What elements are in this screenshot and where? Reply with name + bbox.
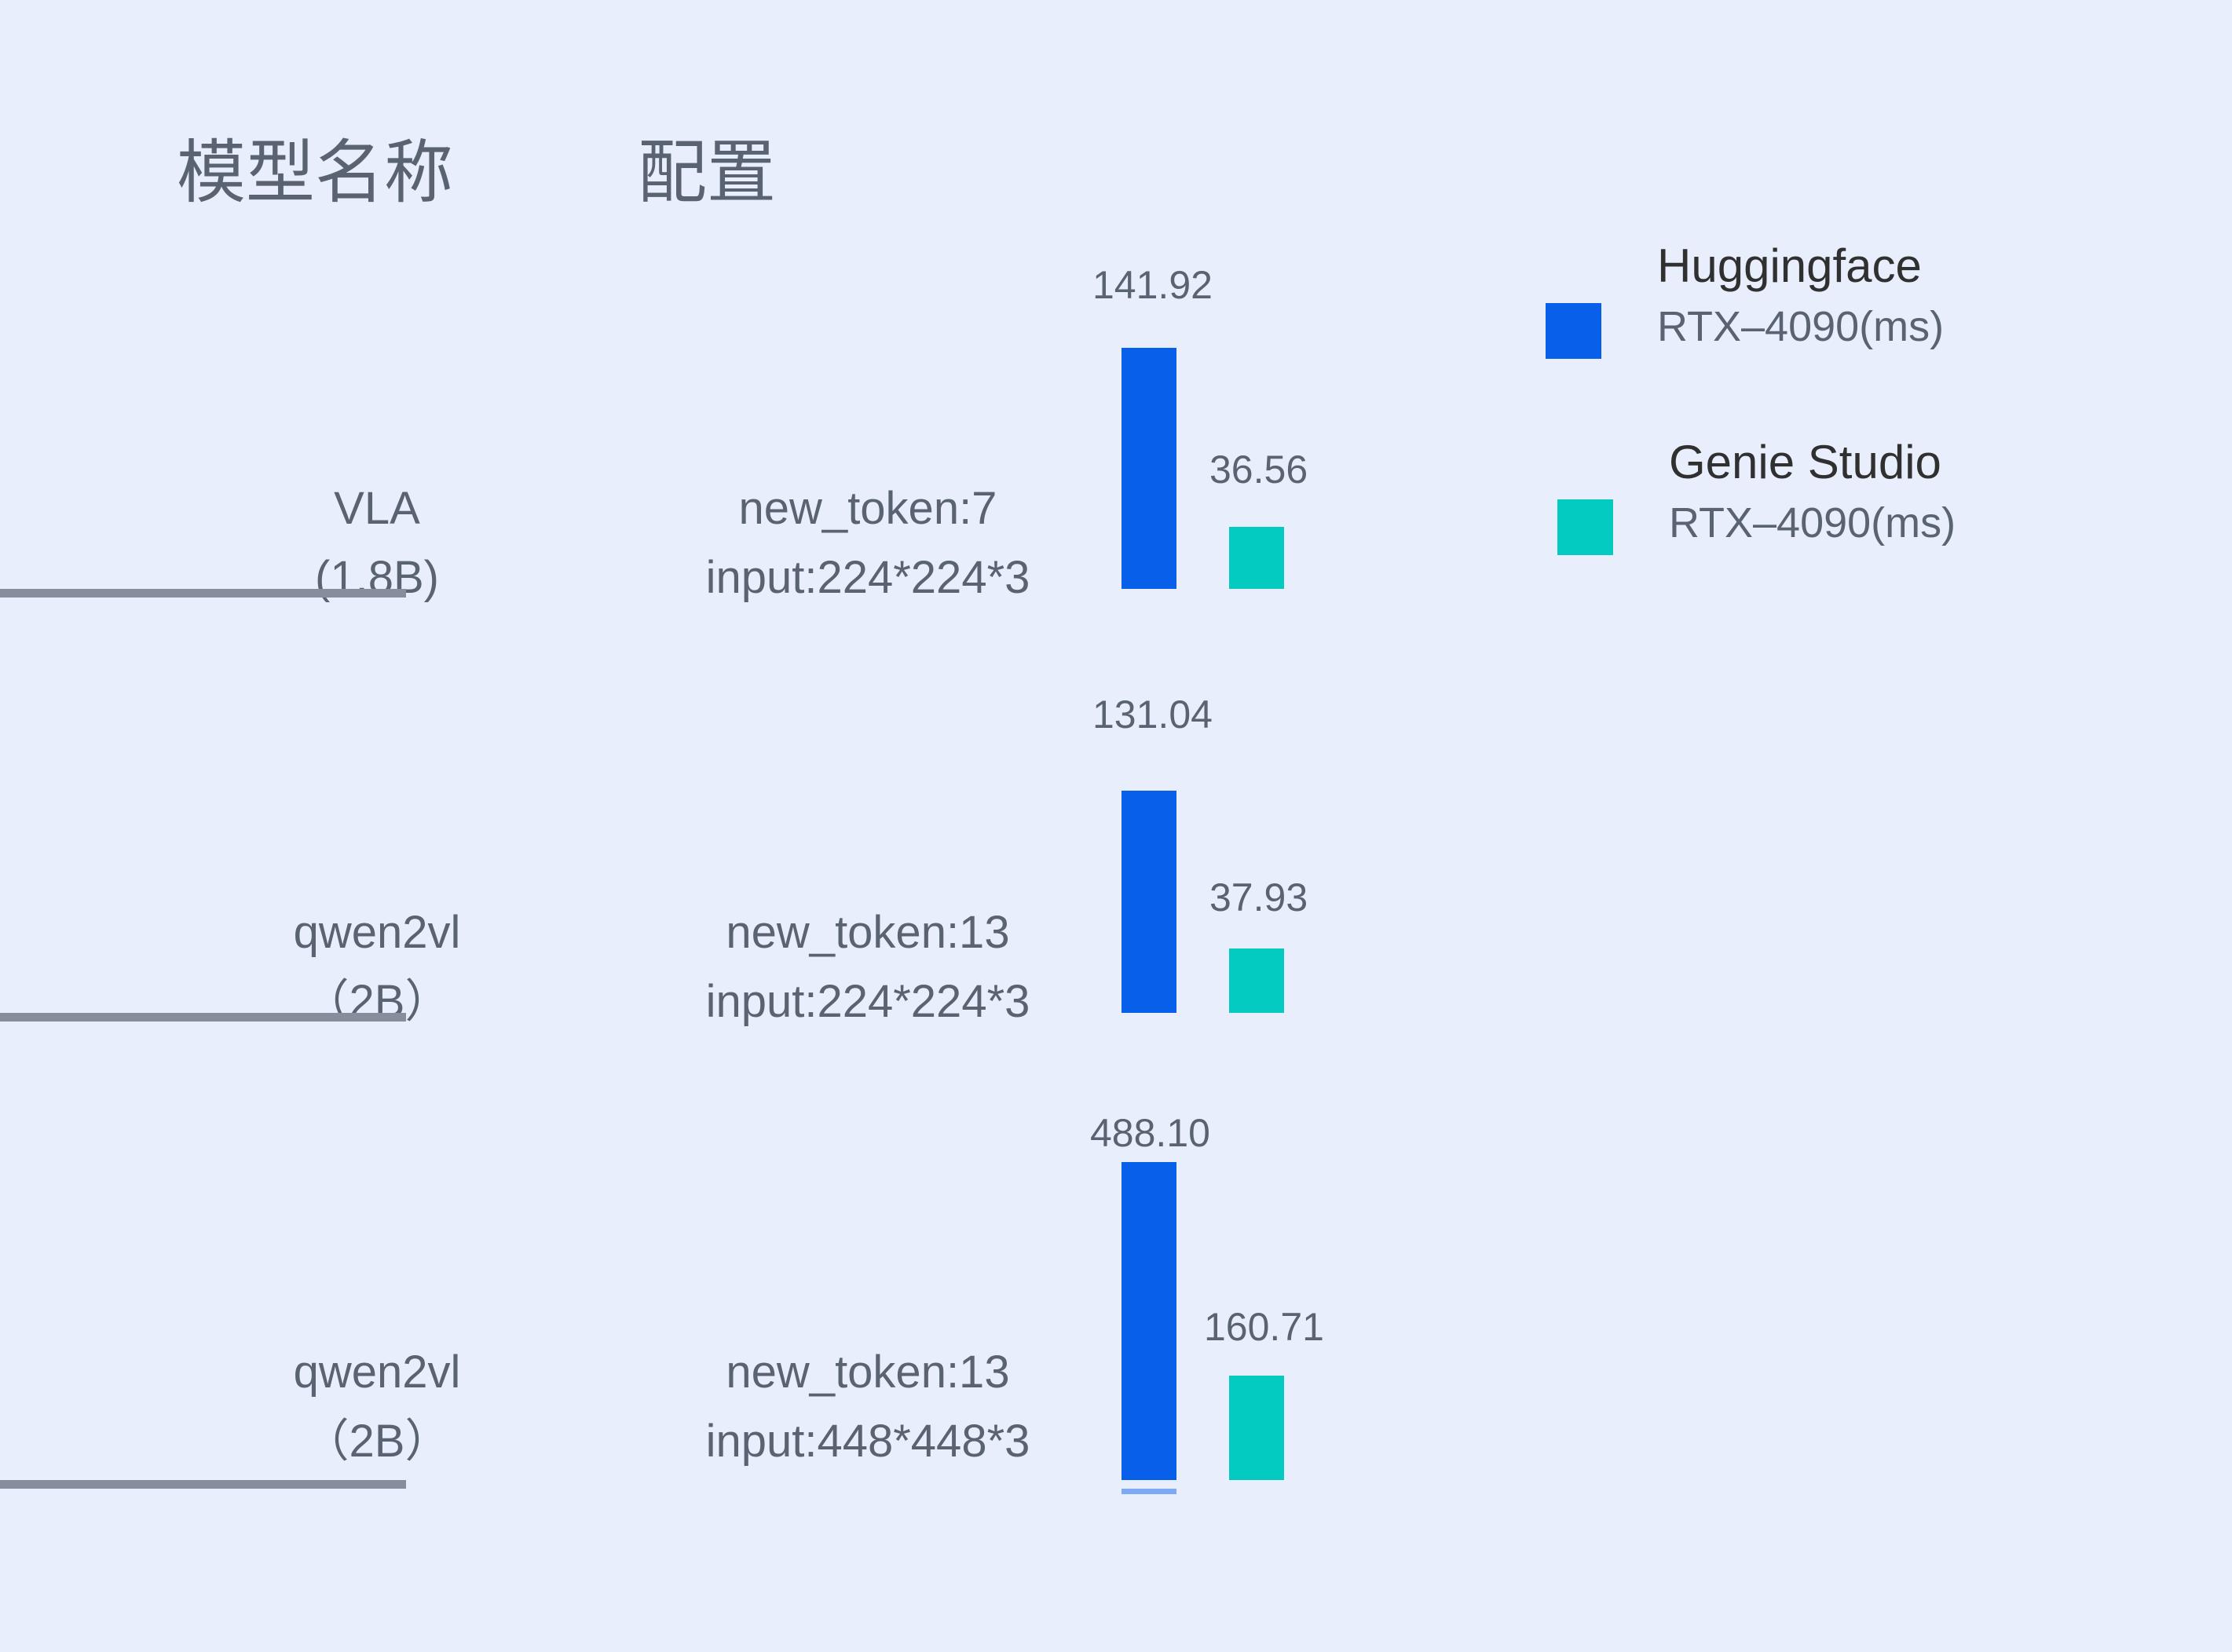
bar-overhang-artifact: [1121, 1489, 1176, 1494]
value-label-genie-studio: 160.71: [1204, 1307, 1324, 1347]
bar-huggingface: [1121, 348, 1176, 589]
bar-huggingface: [1121, 791, 1176, 1013]
value-label-genie-studio: 37.93: [1209, 878, 1308, 917]
legend-label-sub: RTX–4090(ms): [1669, 493, 1956, 553]
legend-label-name: Genie Studio: [1669, 432, 1956, 493]
legend-label-sub: RTX–4090(ms): [1657, 297, 1944, 356]
value-label-genie-studio: 36.56: [1209, 450, 1308, 489]
legend-swatch-icon: [1557, 499, 1613, 555]
axis-baseline: [0, 1480, 406, 1489]
axis-baseline: [0, 1013, 406, 1022]
legend-swatch-icon: [1546, 303, 1601, 359]
bar-huggingface: [1121, 1162, 1176, 1480]
bar-genie-studio: [1229, 948, 1284, 1013]
legend-label-name: Huggingface: [1657, 236, 1944, 297]
config-line1: new_token:13: [726, 907, 1009, 958]
chart-page: 模型名称 配置 VLA (1.8B) new_token:7 input:224…: [0, 0, 2232, 1652]
axis-baseline: [0, 589, 406, 598]
model-name-line1: qwen2vl: [294, 907, 461, 958]
column-header-config: 配置: [638, 138, 776, 207]
value-label-huggingface: 141.92: [1092, 265, 1213, 305]
model-name-line1: qwen2vl: [294, 1347, 461, 1398]
config-line1: new_token:7: [739, 483, 997, 534]
value-label-huggingface: 131.04: [1092, 695, 1213, 734]
column-header-model-name: 模型名称: [177, 138, 453, 207]
value-label-huggingface: 488.10: [1090, 1113, 1210, 1153]
bar-genie-studio: [1229, 527, 1284, 589]
bar-genie-studio: [1229, 1376, 1284, 1480]
config-line1: new_token:13: [726, 1347, 1009, 1398]
model-name-line1: VLA: [334, 483, 420, 534]
